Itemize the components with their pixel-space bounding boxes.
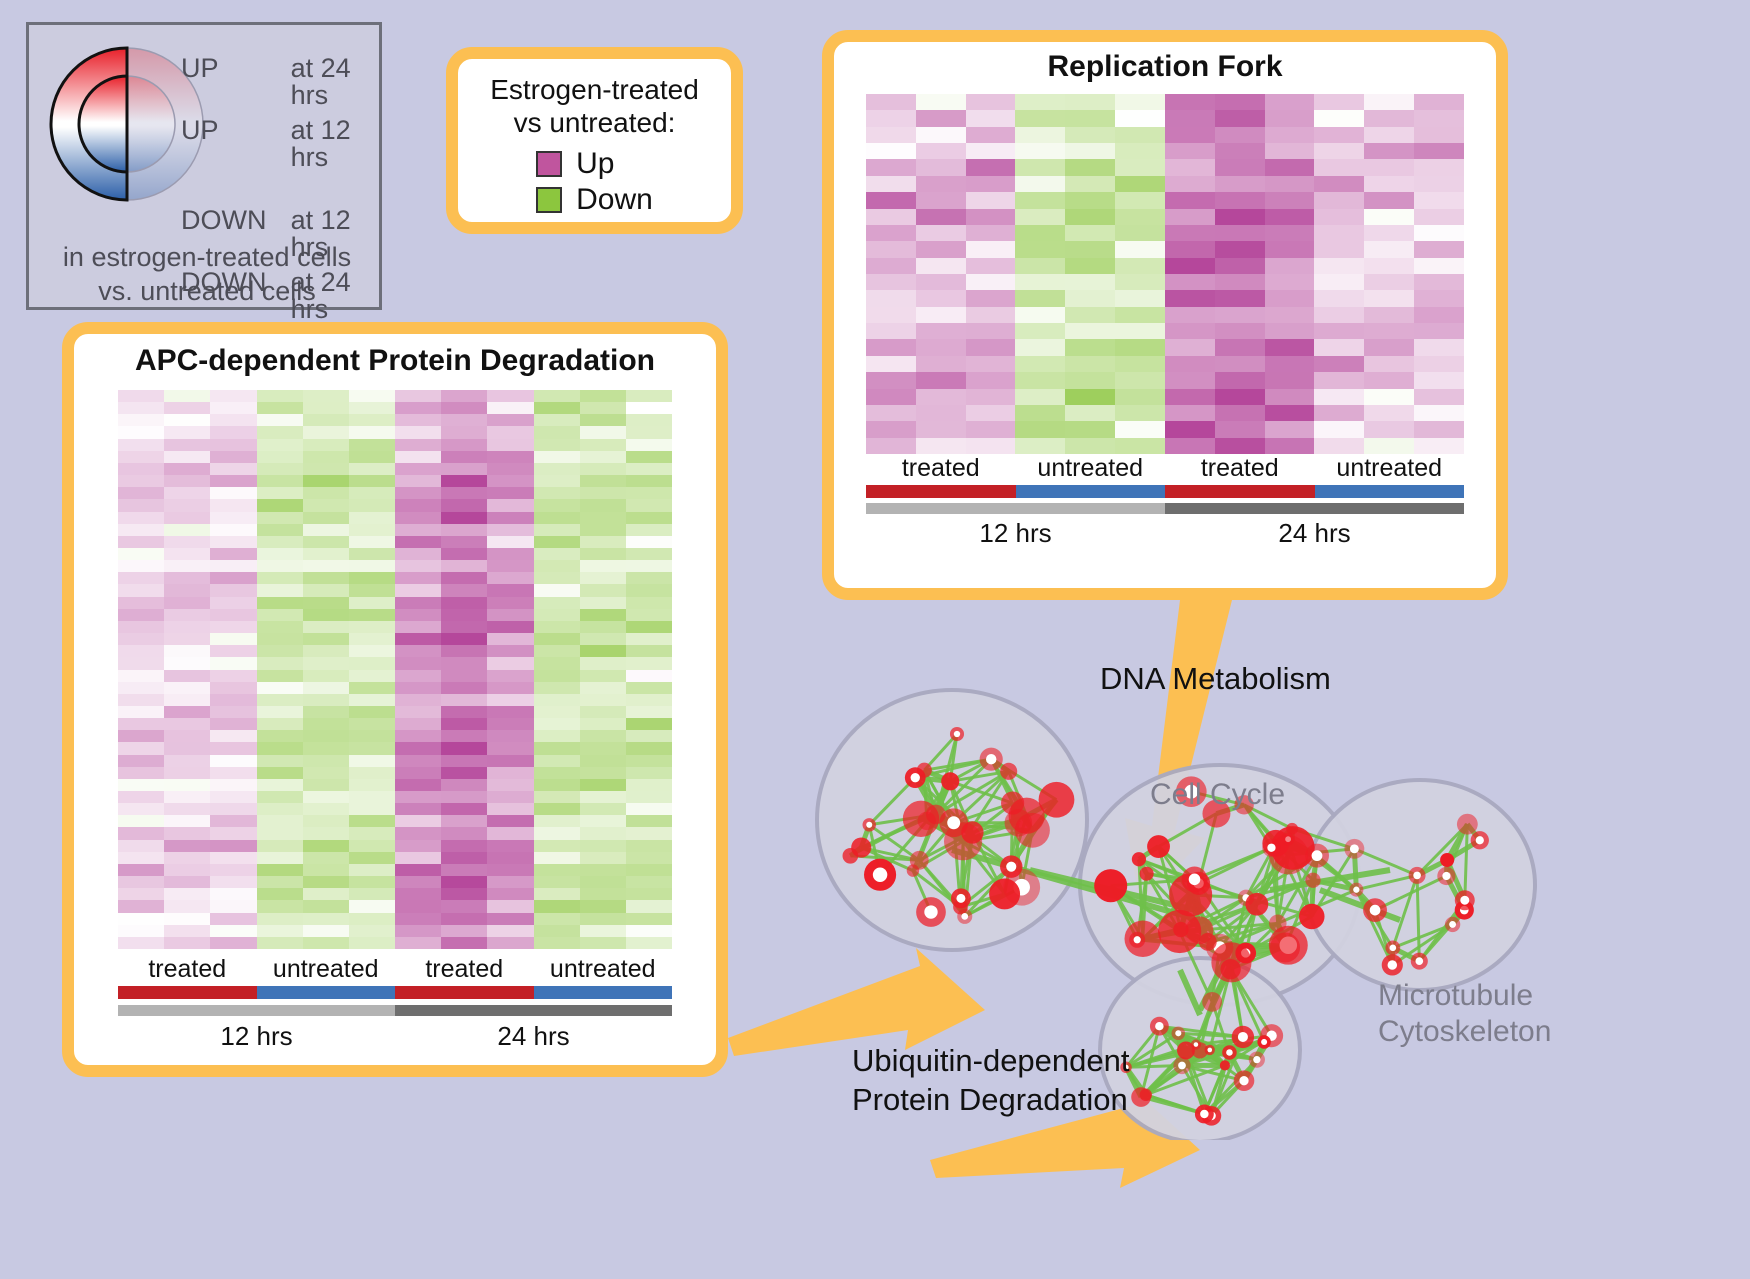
heatmap-cell	[487, 584, 533, 596]
heatmap-cell	[349, 390, 395, 402]
heatmap-cell	[1364, 356, 1414, 372]
heatmap-cell	[534, 840, 580, 852]
heatmap-cell	[1265, 94, 1315, 110]
apc-panel: APC-dependent Protein Degradation treate…	[62, 322, 728, 1077]
heatmap-cell	[1065, 274, 1115, 290]
heatmap-cell	[1215, 389, 1265, 405]
heatmap-cell	[487, 803, 533, 815]
heatmap-cell	[1314, 421, 1364, 437]
network-node[interactable]	[1270, 932, 1300, 962]
heatmap-cell	[1215, 110, 1265, 126]
heatmap-cell	[118, 584, 164, 596]
heatmap-cell	[1414, 209, 1464, 225]
heatmap-cell	[1314, 159, 1364, 175]
heatmap-cell	[1015, 225, 1065, 241]
heatmap-cell	[534, 609, 580, 621]
heatmap-cell	[1165, 209, 1215, 225]
heatmap-cell	[210, 913, 256, 925]
heatmap-cell	[118, 718, 164, 730]
network-node-core	[1261, 1039, 1267, 1045]
heatmap-cell	[916, 323, 966, 339]
heatmap-cell	[118, 900, 164, 912]
apc-time-labels: 12 hrs 24 hrs	[118, 1021, 672, 1052]
heatmap-cell	[441, 584, 487, 596]
heatmap-cell	[210, 426, 256, 438]
heatmap-cell	[164, 645, 210, 657]
heatmap-cell	[118, 852, 164, 864]
heatmap-cell	[349, 512, 395, 524]
heatmap-cell	[534, 755, 580, 767]
heatmap-cell	[303, 694, 349, 706]
heatmap-cell	[164, 718, 210, 730]
heatmap-cell	[1015, 372, 1065, 388]
heatmap-cell	[1015, 421, 1065, 437]
network-node[interactable]	[1220, 1060, 1230, 1070]
heatmap-cell	[1314, 192, 1364, 208]
heatmap-cell	[349, 572, 395, 584]
heatmap-cell	[303, 597, 349, 609]
heatmap-cell	[534, 390, 580, 402]
heatmap-cell	[534, 900, 580, 912]
heatmap-cell	[1364, 192, 1414, 208]
network-node-core	[1207, 1048, 1212, 1053]
heatmap-cell	[441, 864, 487, 876]
network-node[interactable]	[1245, 893, 1268, 916]
heatmap-cell	[916, 159, 966, 175]
heatmap-cell	[1314, 323, 1364, 339]
heatmap-cell	[580, 560, 626, 572]
heatmap-cell	[349, 888, 395, 900]
heatmap-cell	[1314, 127, 1364, 143]
network-node[interactable]	[1177, 1041, 1195, 1059]
heatmap-cell	[1015, 143, 1065, 159]
heatmap-cell	[395, 536, 441, 548]
heatmap-cell	[534, 876, 580, 888]
heatmap-cell	[1015, 274, 1065, 290]
heatmap-cell	[487, 548, 533, 560]
apc-group-bars	[118, 986, 672, 999]
network-node[interactable]	[1299, 904, 1325, 930]
heatmap-cell	[1065, 241, 1115, 257]
heatmap-cell	[1165, 356, 1215, 372]
heatmap-cell	[164, 584, 210, 596]
heatmap-cell	[349, 913, 395, 925]
heatmap-cell	[1314, 356, 1364, 372]
heatmap-cell	[441, 694, 487, 706]
heatmap-cell	[1414, 241, 1464, 257]
heatmap-cell	[626, 706, 672, 718]
heatmap-cell	[866, 389, 916, 405]
heatmap-cell	[118, 426, 164, 438]
heatmap-cell	[303, 779, 349, 791]
network-node[interactable]	[1186, 916, 1214, 944]
heatmap-cell	[395, 512, 441, 524]
network-node[interactable]	[851, 837, 871, 857]
heatmap-cell	[1265, 192, 1315, 208]
heatmap-cell	[164, 682, 210, 694]
heatmap-cell	[1065, 127, 1115, 143]
heatmap-cell	[966, 225, 1016, 241]
group-bar-treated	[1165, 485, 1315, 498]
heatmap-cell	[164, 694, 210, 706]
heatmap-cell	[580, 864, 626, 876]
heatmap-cell	[349, 876, 395, 888]
network-node[interactable]	[1440, 853, 1454, 867]
heatmap-cell	[626, 645, 672, 657]
network-node[interactable]	[1015, 813, 1050, 848]
heatmap-cell	[349, 670, 395, 682]
network-node[interactable]	[1140, 1089, 1152, 1101]
heatmap-cell	[1065, 110, 1115, 126]
heatmap-cell	[118, 755, 164, 767]
heatmap-cell	[349, 900, 395, 912]
heatmap-cell	[303, 414, 349, 426]
heatmap-cell	[1314, 143, 1364, 159]
heatmap-cell	[916, 225, 966, 241]
heatmap-cell	[1265, 372, 1315, 388]
heatmap-cell	[210, 621, 256, 633]
heatmap-cell	[1065, 405, 1115, 421]
legend-title-line2: vs untreated:	[468, 106, 721, 139]
heatmap-cell	[257, 524, 303, 536]
heatmap-cell	[164, 414, 210, 426]
network-node-core	[911, 773, 920, 782]
heatmap-cell	[1215, 176, 1265, 192]
heatmap-cell	[257, 512, 303, 524]
heatmap-cell	[626, 682, 672, 694]
heatmap-cell	[257, 852, 303, 864]
heatmap-cell	[118, 402, 164, 414]
heatmap-cell	[210, 706, 256, 718]
heatmap-cell	[534, 402, 580, 414]
network-node-core	[1238, 1032, 1248, 1042]
heatmap-cell	[534, 548, 580, 560]
heatmap-cell	[916, 94, 966, 110]
network-node[interactable]	[941, 772, 959, 790]
heatmap-cell	[626, 633, 672, 645]
network-node-core	[1239, 1076, 1248, 1085]
heatmap-cell	[580, 536, 626, 548]
heatmap-cell	[1265, 389, 1315, 405]
heatmap-cell	[395, 670, 441, 682]
heatmap-cell	[1165, 143, 1215, 159]
network-node[interactable]	[1202, 992, 1222, 1012]
heatmap-cell	[1215, 225, 1265, 241]
heatmap-cell	[257, 864, 303, 876]
heatmap-cell	[257, 779, 303, 791]
heatmap-cell	[626, 840, 672, 852]
heatmap-cell	[1015, 110, 1065, 126]
heatmap-cell	[303, 803, 349, 815]
heatmap-cell	[257, 840, 303, 852]
heatmap-cell	[118, 487, 164, 499]
heatmap-cell	[534, 524, 580, 536]
heatmap-cell	[1065, 225, 1115, 241]
heatmap-cell	[534, 864, 580, 876]
network-node[interactable]	[910, 851, 929, 870]
group-bar-untreated	[257, 986, 396, 999]
heatmap-cell	[626, 475, 672, 487]
heatmap-cell	[257, 913, 303, 925]
heatmap-cell	[349, 706, 395, 718]
heatmap-cell	[626, 597, 672, 609]
heatmap-cell	[966, 192, 1016, 208]
heatmap-cell	[534, 925, 580, 937]
heatmap-cell	[866, 307, 916, 323]
heatmap-cell	[916, 258, 966, 274]
heatmap-cell	[118, 499, 164, 511]
heatmap-cell	[118, 512, 164, 524]
heatmap-cell	[866, 159, 916, 175]
heatmap-cell	[441, 463, 487, 475]
heatmap-cell	[487, 755, 533, 767]
heatmap-cell	[1215, 274, 1265, 290]
network-node[interactable]	[918, 812, 936, 830]
network-node-core	[1267, 844, 1275, 852]
heatmap-cell	[118, 815, 164, 827]
apc-group-labels: treated untreated treated untreated	[118, 955, 672, 984]
network-node[interactable]	[1147, 835, 1170, 858]
heatmap-cell	[916, 421, 966, 437]
heatmap-cell	[303, 888, 349, 900]
network-node-core	[866, 822, 872, 828]
heatmap-cell	[487, 791, 533, 803]
heatmap-cell	[580, 913, 626, 925]
heatmap-cell	[395, 718, 441, 730]
heatmap-cell	[1165, 110, 1215, 126]
heatmap-cell	[1414, 176, 1464, 192]
heatmap-cell	[303, 767, 349, 779]
group-label: treated	[395, 955, 534, 984]
heatmap-cell	[118, 390, 164, 402]
cluster-label-ubiquitin-degradation: Ubiquitin-dependent Protein Degradation	[852, 1042, 1130, 1120]
heatmap-cell	[257, 572, 303, 584]
heatmap-cell	[626, 925, 672, 937]
heatmap-cell	[349, 524, 395, 536]
network-node-core	[1312, 850, 1323, 861]
heatmap-cell	[916, 241, 966, 257]
heatmap-cell	[487, 742, 533, 754]
heatmap-cell	[349, 767, 395, 779]
heatmap-cell	[164, 572, 210, 584]
heatmap-cell	[487, 876, 533, 888]
heatmap-cell	[441, 414, 487, 426]
heatmap-cell	[966, 258, 1016, 274]
heatmap-cell	[1364, 258, 1414, 274]
cluster-label-microtubule-cytoskeleton: Microtubule Cytoskeleton	[1378, 978, 1530, 1050]
heatmap-cell	[1115, 438, 1165, 454]
colorwheel-direction: UP	[181, 117, 291, 144]
network-node-core	[1353, 887, 1359, 893]
network-node-core	[1388, 960, 1398, 970]
heatmap-cell	[303, 524, 349, 536]
group-label: untreated	[1016, 454, 1166, 483]
heatmap-cell	[210, 451, 256, 463]
heatmap-cell	[257, 925, 303, 937]
network-node[interactable]	[1140, 867, 1154, 881]
heatmap-cell	[395, 682, 441, 694]
network-node[interactable]	[989, 878, 1020, 909]
heatmap-cell	[441, 937, 487, 949]
heatmap-cell	[118, 840, 164, 852]
heatmap-cell	[164, 670, 210, 682]
heatmap-cell	[257, 426, 303, 438]
heatmap-cell	[257, 621, 303, 633]
heatmap-cell	[487, 815, 533, 827]
heatmap-cell	[916, 274, 966, 290]
network-node[interactable]	[1305, 873, 1320, 888]
heatmap-cell	[866, 94, 916, 110]
heatmap-cell	[1414, 389, 1464, 405]
heatmap-cell	[118, 779, 164, 791]
heatmap-cell	[164, 925, 210, 937]
heatmap-cell	[395, 451, 441, 463]
heatmap-cell	[349, 487, 395, 499]
network-node[interactable]	[1094, 869, 1127, 902]
network-node[interactable]	[1457, 814, 1478, 835]
heatmap-cell	[395, 609, 441, 621]
colorwheel-row: UP at 12 hrs	[181, 117, 391, 171]
heatmap-cell	[1414, 143, 1464, 159]
heatmap-cell	[626, 621, 672, 633]
heatmap-cell	[118, 414, 164, 426]
heatmap-cell	[1364, 127, 1414, 143]
heatmap-cell	[1364, 339, 1414, 355]
heatmap-cell	[534, 560, 580, 572]
heatmap-cell	[626, 888, 672, 900]
heatmap-cell	[210, 645, 256, 657]
heatmap-cell	[580, 682, 626, 694]
legend-item-label: Down	[576, 183, 653, 217]
heatmap-cell	[534, 730, 580, 742]
heatmap-cell	[118, 925, 164, 937]
colorwheel-caption-line2: vs. untreated cells	[29, 275, 385, 309]
heatmap-cell	[1414, 307, 1464, 323]
heatmap-cell	[916, 127, 966, 143]
heatmap-cell	[1265, 274, 1315, 290]
heatmap-cell	[257, 475, 303, 487]
heatmap-cell	[164, 803, 210, 815]
heatmap-cell	[257, 402, 303, 414]
heatmap-cell	[916, 192, 966, 208]
heatmap-cell	[580, 390, 626, 402]
heatmap-cell	[441, 536, 487, 548]
group-bar-untreated	[534, 986, 673, 999]
heatmap-cell	[257, 439, 303, 451]
heatmap-cell	[1314, 290, 1364, 306]
heatmap-cell	[966, 94, 1016, 110]
network-node-core	[1006, 862, 1016, 872]
heatmap-cell	[303, 645, 349, 657]
heatmap-cell	[966, 339, 1016, 355]
heatmap-cell	[395, 852, 441, 864]
network-node-core	[1390, 945, 1397, 952]
heatmap-cell	[303, 876, 349, 888]
network-node[interactable]	[1211, 942, 1251, 982]
heatmap-cell	[1015, 176, 1065, 192]
heatmap-cell	[395, 572, 441, 584]
heatmap-cell	[441, 548, 487, 560]
heatmap-cell	[210, 670, 256, 682]
network-node[interactable]	[1132, 852, 1146, 866]
heatmap-cell	[303, 451, 349, 463]
heatmap-cell	[1314, 241, 1364, 257]
heatmap-cell	[916, 176, 966, 192]
heatmap-cell	[441, 633, 487, 645]
network-node-core	[1449, 921, 1456, 928]
heatmap-cell	[395, 925, 441, 937]
heatmap-cell	[580, 852, 626, 864]
heatmap-cell	[1115, 372, 1165, 388]
heatmap-cell	[626, 487, 672, 499]
heatmap-cell	[580, 402, 626, 414]
heatmap-cell	[1015, 127, 1065, 143]
heatmap-cell	[395, 597, 441, 609]
heatmap-cell	[487, 779, 533, 791]
group-bar-untreated	[1315, 485, 1465, 498]
heatmap-cell	[441, 475, 487, 487]
heatmap-cell	[1414, 405, 1464, 421]
heatmap-cell	[580, 791, 626, 803]
heatmap-cell	[626, 779, 672, 791]
heatmap-cell	[1115, 389, 1165, 405]
heatmap-cell	[866, 405, 916, 421]
heatmap-cell	[210, 876, 256, 888]
heatmap-cell	[966, 176, 1016, 192]
heatmap-cell	[1364, 438, 1414, 454]
heatmap-cell	[1015, 339, 1065, 355]
heatmap-cell	[118, 803, 164, 815]
heatmap-cell	[118, 621, 164, 633]
heatmap-cell	[118, 888, 164, 900]
heatmap-cell	[210, 536, 256, 548]
heatmap-cell	[534, 767, 580, 779]
heatmap-cell	[1215, 356, 1265, 372]
heatmap-cell	[210, 657, 256, 669]
heatmap-cell	[164, 888, 210, 900]
heatmap-cell	[866, 421, 916, 437]
heatmap-cell	[164, 597, 210, 609]
heatmap-cell	[1364, 323, 1414, 339]
down-swatch-icon	[536, 187, 562, 213]
heatmap-cell	[303, 864, 349, 876]
heatmap-cell	[210, 414, 256, 426]
heatmap-cell	[580, 426, 626, 438]
heatmap-cell	[1265, 209, 1315, 225]
heatmap-cell	[1414, 356, 1464, 372]
heatmap-cell	[1364, 307, 1414, 323]
heatmap-cell	[164, 439, 210, 451]
heatmap-cell	[1165, 274, 1215, 290]
heatmap-cell	[303, 682, 349, 694]
replication-fork-time-labels: 12 hrs 24 hrs	[866, 518, 1464, 549]
heatmap-cell	[1364, 176, 1414, 192]
heatmap-cell	[441, 876, 487, 888]
heatmap-cell	[1165, 389, 1215, 405]
time-bar-24hrs	[1165, 503, 1464, 514]
network-node[interactable]	[1000, 763, 1017, 780]
heatmap-cell	[210, 791, 256, 803]
heatmap-cell	[1165, 241, 1215, 257]
heatmap-cell	[303, 439, 349, 451]
heatmap-cell	[257, 706, 303, 718]
heatmap-cell	[1215, 94, 1265, 110]
heatmap-cell	[349, 730, 395, 742]
heatmap-cell	[395, 548, 441, 560]
heatmap-cell	[866, 438, 916, 454]
spacer	[181, 171, 391, 207]
heatmap-cell	[1414, 258, 1464, 274]
